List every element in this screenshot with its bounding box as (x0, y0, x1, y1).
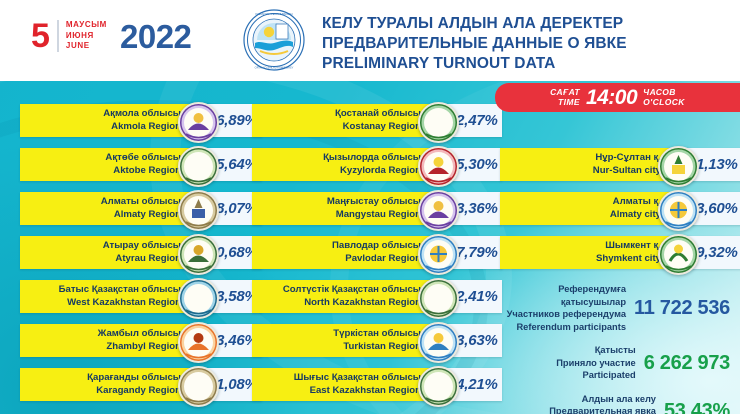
region-name: Батыс Қазақстан облысыWest Kazakhstan Re… (20, 280, 190, 313)
page-title-ru: ПРЕДВАРИТЕЛЬНЫЕ ДАННЫЕ О ЯВКЕ (322, 34, 627, 54)
region-name-kz: Солтүстік Қазақстан облысы (283, 284, 421, 297)
summary-statistics: Референдумға қатысушыларУчастников рефер… (500, 283, 730, 414)
turkistan-region-emblem-icon (418, 322, 459, 363)
region-name-kz: Алматы облысы (101, 196, 181, 209)
region-name-kz: Батыс Қазақстан облысы (59, 284, 181, 297)
region-name-en: Atyrau Region (115, 253, 181, 266)
region-row[interactable]: Солтүстік Қазақстан облысыNorth Kazakhst… (252, 280, 484, 313)
region-name-en: Kostanay Region (343, 121, 421, 134)
region-name: Шығыс Қазақстан облысыEast Kazakhstan Re… (252, 368, 430, 401)
stat-value: 6 262 973 (644, 352, 730, 375)
region-name: Қарағанды облысыKaragandy Region (20, 368, 190, 401)
page-title-kz: КЕЛУ ТУРАЛЫ АЛДЫН АЛА ДЕРЕКТЕР (322, 14, 627, 34)
date-block: 5 МАУСЫМ ИЮНЯ JUNE (31, 19, 107, 53)
region-name-en: Akmola Region (111, 121, 181, 134)
region-name-kz: Алматы қ. (613, 196, 661, 209)
region-name-en: Karagandy Region (96, 385, 181, 398)
time-banner: САҒАТ TIME 14:00 ЧАСОВ O'CLOCK (495, 83, 740, 112)
region-name: Алматы қ.Almaty city (500, 192, 670, 225)
time-suffix-en: O'CLOCK (643, 98, 685, 108)
region-name: Шымкент қ.Shymkent city (500, 236, 670, 269)
region-name-en: Pavlodar Region (345, 253, 421, 266)
region-name-kz: Павлодар облысы (332, 240, 421, 253)
region-name-kz: Жамбыл облысы (98, 328, 181, 341)
region-name-kz: Маңғыстау облысы (327, 196, 421, 209)
stat-label-kz: Қатысты (595, 344, 636, 357)
region-row[interactable]: Жамбыл облысыZhambyl Region 63,46% (20, 324, 242, 357)
page-title-en: PRELIMINARY TURNOUT DATA (322, 54, 627, 74)
region-row[interactable]: Алматы қ.Almaty city 23,60% (500, 192, 722, 225)
region-name-en: Aktobe Region (113, 165, 181, 178)
date-month-names: МАУСЫМ ИЮНЯ JUNE (66, 20, 107, 52)
stat-item: Референдумға қатысушыларУчастников рефер… (500, 283, 730, 333)
region-column-middle: Қостанай облысыKostanay Region undefined… (252, 104, 484, 412)
stat-labels: Референдумға қатысушыларУчастников рефер… (500, 283, 626, 333)
stat-label-kz: Алдын ала келу (582, 393, 656, 406)
region-name-en: Turkistan Region (343, 341, 421, 354)
city-column-right: Нұр-Сұлтан қ.Nur-Sultan city 41,13%Алмат… (500, 148, 722, 280)
region-name: Ақмола облысыAkmola Region (20, 104, 190, 137)
region-name: Ақтөбе облысыAktobe Region (20, 148, 190, 181)
region-name: Түркістан облысыTurkistan Region (252, 324, 430, 357)
region-name-en: Almaty city (610, 209, 661, 222)
region-row[interactable]: Қызылорда облысыKyzylorda Region 65,30% (252, 148, 484, 181)
stat-item: ҚатыстыПриняло участиеParticipated6 262 … (500, 344, 730, 382)
time-banner-left-labels: САҒАТ TIME (550, 88, 580, 107)
stat-label-ru: Предварительная явка (549, 405, 656, 414)
infographic-poster: 5 МАУСЫМ ИЮНЯ JUNE 2022 ҚАЗАҚСТАН (0, 0, 740, 414)
region-row[interactable]: Атырау облысыAtyrau Region 50,68% (20, 236, 242, 269)
stat-labels: ҚатыстыПриняло участиеParticipated (556, 344, 636, 382)
date-divider (57, 20, 59, 52)
east-kazakhstan-region-emblem-icon: undefined (418, 366, 459, 407)
stat-label-en: Participated (583, 369, 636, 382)
region-name: Алматы облысыAlmaty Region (20, 192, 190, 225)
region-name-en: Zhambyl Region (106, 341, 181, 354)
almaty-city-emblem-icon (658, 190, 699, 231)
region-name-kz: Қостанай облысы (335, 108, 421, 121)
region-name: Қызылорда облысыKyzylorda Region (252, 148, 430, 181)
region-name-kz: Түркістан облысы (333, 328, 421, 341)
region-name-en: West Kazakhstan Region (67, 297, 181, 310)
atyrau-region-emblem-icon (178, 234, 219, 275)
region-name-kz: Ақтөбе облысы (105, 152, 181, 165)
header-bar: 5 МАУСЫМ ИЮНЯ JUNE 2022 ҚАЗАҚСТАН (0, 0, 740, 81)
region-name-en: Nur-Sultan city (593, 165, 661, 178)
karagandy-region-emblem-icon: undefined (178, 366, 219, 407)
akmola-region-emblem-icon (178, 102, 219, 143)
region-name: Нұр-Сұлтан қ.Nur-Sultan city (500, 148, 670, 181)
region-name-kz: Шығыс Қазақстан облысы (294, 372, 421, 385)
svg-text:ҚАЗАҚСТАН РЕСПУБЛИКАСЫ: ҚАЗАҚСТАН РЕСПУБЛИКАСЫ (255, 12, 293, 16)
region-name: Маңғыстау облысыMangystau Region (252, 192, 430, 225)
region-name-en: Kyzylorda Region (340, 165, 421, 178)
region-name: Атырау облысыAtyrau Region (20, 236, 190, 269)
time-label-en: TIME (558, 98, 580, 108)
region-row[interactable]: Шығыс Қазақстан облысыEast Kazakhstan Re… (252, 368, 484, 401)
region-row[interactable]: Түркістан облысыTurkistan Region 53,63% (252, 324, 484, 357)
region-name-kz: Атырау облысы (103, 240, 181, 253)
stat-item: Алдын ала келуПредварительная явкаPrelim… (500, 393, 730, 414)
region-row[interactable]: Алматы облысыAlmaty Region 58,07% (20, 192, 242, 225)
region-name-en: Almaty Region (114, 209, 181, 222)
region-name-kz: Ақмола облысы (103, 108, 181, 121)
page-title: КЕЛУ ТУРАЛЫ АЛДЫН АЛА ДЕРЕКТЕР ПРЕДВАРИТ… (322, 14, 627, 74)
region-row[interactable]: Нұр-Сұлтан қ.Nur-Sultan city 41,13% (500, 148, 722, 181)
stat-label-ru: Участников референдума (507, 308, 626, 321)
nur-sultan-city-emblem-icon (658, 146, 699, 187)
kazakhstan-cec-emblem-icon: ҚАЗАҚСТАН РЕСПУБЛИКАСЫ ORTALYQ SAILAU KO… (243, 9, 305, 71)
region-row[interactable]: Қарағанды облысыKaragandy Region undefin… (20, 368, 242, 401)
month-ru: ИЮНЯ (66, 31, 107, 42)
region-name: Павлодар облысыPavlodar Region (252, 236, 430, 269)
almaty-region-emblem-icon (178, 190, 219, 231)
stat-label-kz: Референдумға қатысушылар (500, 283, 626, 308)
region-row[interactable]: Шымкент қ.Shymkent city 59,32% (500, 236, 722, 269)
mangystau-region-emblem-icon (418, 190, 459, 231)
stat-labels: Алдын ала келуПредварительная явкаPrelim… (549, 393, 656, 414)
kyzylorda-region-emblem-icon (418, 146, 459, 187)
stat-label-ru: Приняло участие (556, 357, 636, 370)
region-name-en: North Kazakhstan Region (304, 297, 421, 310)
west-kazakhstan-region-emblem-icon: undefined (178, 278, 219, 319)
region-row[interactable]: Қостанай облысыKostanay Region undefined… (252, 104, 484, 137)
region-name-kz: Қызылорда облысы (323, 152, 421, 165)
region-name: Қостанай облысыKostanay Region (252, 104, 430, 137)
region-row[interactable]: Батыс Қазақстан облысыWest Kazakhstan Re… (20, 280, 242, 313)
region-row[interactable]: Павлодар облысыPavlodar Region 57,79% (252, 236, 484, 269)
kostanay-region-emblem-icon: undefined (418, 102, 459, 143)
region-name-en: East Kazakhstan Region (310, 385, 421, 398)
date-day: 5 (31, 19, 49, 53)
region-name-kz: Нұр-Сұлтан қ. (595, 152, 661, 165)
stat-value: 11 722 536 (634, 297, 730, 320)
region-name-kz: Шымкент қ. (605, 240, 661, 253)
date-year: 2022 (120, 18, 191, 56)
pavlodar-region-emblem-icon (418, 234, 459, 275)
north-kazakhstan-region-emblem-icon: undefined (418, 278, 459, 319)
region-name-en: Shymkent city (596, 253, 661, 266)
zhambyl-region-emblem-icon (178, 322, 219, 363)
stat-label-en: Referendum participants (516, 321, 626, 334)
region-row[interactable]: Ақтөбе облысыAktobe Region undefined 45,… (20, 148, 242, 181)
shymkent-city-emblem-icon (658, 234, 699, 275)
aktobe-region-emblem-icon: undefined (178, 146, 219, 187)
month-kz: МАУСЫМ (66, 20, 107, 31)
time-value: 14:00 (586, 86, 637, 110)
stat-value: 53,43% (664, 400, 730, 414)
region-name: Жамбыл облысыZhambyl Region (20, 324, 190, 357)
region-name-en: Mangystau Region (336, 209, 421, 222)
region-row[interactable]: Ақмола облысыAkmola Region 56,89% (20, 104, 242, 137)
region-name: Солтүстік Қазақстан облысыNorth Kazakhst… (252, 280, 430, 313)
region-name-kz: Қарағанды облысы (87, 372, 181, 385)
month-en: JUNE (66, 41, 107, 52)
region-column-left: Ақмола облысыAkmola Region 56,89%Ақтөбе … (20, 104, 242, 412)
svg-text:ORTALYQ SAILAU KOMISSIASY: ORTALYQ SAILAU KOMISSIASY (255, 66, 294, 70)
time-banner-right-labels: ЧАСОВ O'CLOCK (643, 88, 685, 107)
region-row[interactable]: Маңғыстау облысыMangystau Region 43,36% (252, 192, 484, 225)
